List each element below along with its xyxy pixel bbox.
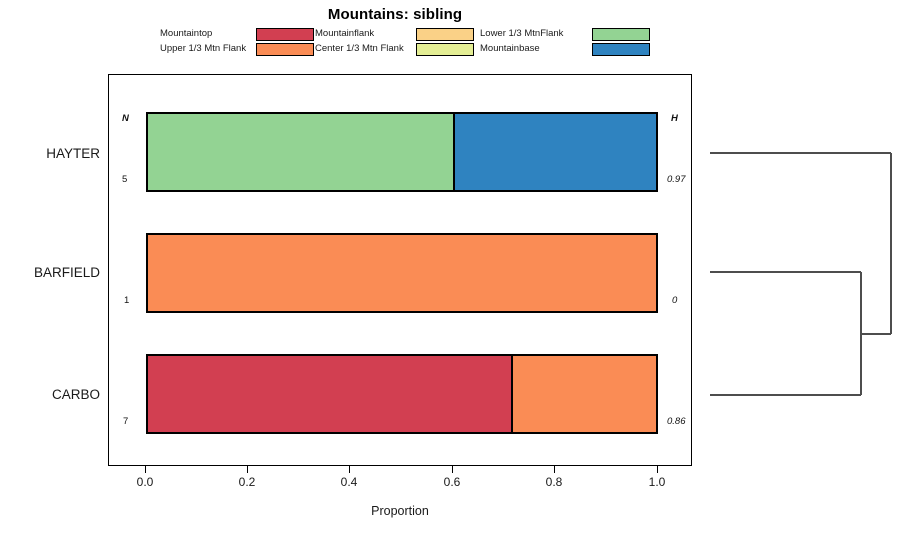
legend-swatch-mountainbase xyxy=(592,43,650,56)
x-tick-label: 0.6 xyxy=(432,475,472,489)
bar-row-hayter: 5 0.97 xyxy=(109,112,693,192)
x-tick-label: 1.0 xyxy=(637,475,677,489)
x-tick-mark xyxy=(657,466,658,473)
x-tick-mark xyxy=(349,466,350,473)
x-tick-label: 0.0 xyxy=(125,475,165,489)
legend-column-2: Mountainflank Center 1/3 Mtn Flank xyxy=(315,27,475,57)
legend-item: Center 1/3 Mtn Flank xyxy=(315,42,475,57)
legend-item: Mountainflank xyxy=(315,27,475,42)
chart-canvas: Mountains: sibling Mountaintop Upper 1/3… xyxy=(0,0,900,540)
n-value-hayter: 5 xyxy=(122,174,127,185)
bar-segment-upper-third-flank[interactable] xyxy=(511,356,656,432)
legend-swatch-lower-third-flank xyxy=(592,28,650,41)
x-axis-title: Proportion xyxy=(108,504,692,518)
legend-column-3: Lower 1/3 MtnFlank Mountainbase xyxy=(480,27,650,57)
legend-item-label: Upper 1/3 Mtn Flank xyxy=(160,43,246,55)
x-tick-mark xyxy=(554,466,555,473)
x-tick-label: 0.8 xyxy=(534,475,574,489)
legend-item-label: Mountaintop xyxy=(160,28,212,40)
legend-item-label: Mountainbase xyxy=(480,43,540,55)
chart-legend: Mountaintop Upper 1/3 Mtn Flank Mountain… xyxy=(160,27,660,57)
bar-segment-upper-third-flank[interactable] xyxy=(148,235,656,311)
x-tick-mark xyxy=(247,466,248,473)
legend-item: Upper 1/3 Mtn Flank xyxy=(160,42,315,57)
row-label-carbo: CARBO xyxy=(0,387,100,402)
x-tick-label: 0.2 xyxy=(227,475,267,489)
bar-row-barfield: 1 0 xyxy=(109,233,693,313)
legend-item: Mountaintop xyxy=(160,27,315,42)
bar-segment-mountainbase[interactable] xyxy=(453,114,656,190)
h-value-barfield: 0 xyxy=(672,295,677,306)
x-tick-mark xyxy=(452,466,453,473)
bar-segment-lower-third-flank[interactable] xyxy=(148,114,453,190)
stacked-bar-barfield[interactable] xyxy=(146,233,658,313)
n-value-barfield: 1 xyxy=(124,295,129,306)
bar-row-carbo: 7 0.86 xyxy=(109,354,693,434)
dendrogram xyxy=(700,74,900,466)
legend-swatch-upper-third-flank xyxy=(256,43,314,56)
legend-swatch-mountainflank xyxy=(416,28,474,41)
legend-swatch-center-third-flank xyxy=(416,43,474,56)
stacked-bar-carbo[interactable] xyxy=(146,354,658,434)
n-value-carbo: 7 xyxy=(123,416,128,427)
row-label-barfield: BARFIELD xyxy=(0,265,100,280)
legend-item-label: Mountainflank xyxy=(315,28,374,40)
x-tick-label: 0.4 xyxy=(329,475,369,489)
bar-segment-mountaintop[interactable] xyxy=(148,356,511,432)
x-tick-mark xyxy=(145,466,146,473)
legend-item: Mountainbase xyxy=(480,42,650,57)
stacked-bar-hayter[interactable] xyxy=(146,112,658,192)
legend-item: Lower 1/3 MtnFlank xyxy=(480,27,650,42)
plot-panel: N H 5 0.97 1 0 7 0.86 xyxy=(108,74,692,466)
legend-column-1: Mountaintop Upper 1/3 Mtn Flank xyxy=(160,27,315,57)
row-label-hayter: HAYTER xyxy=(0,146,100,161)
h-value-hayter: 0.97 xyxy=(667,174,686,185)
legend-item-label: Center 1/3 Mtn Flank xyxy=(315,43,404,55)
chart-title: Mountains: sibling xyxy=(0,6,790,23)
legend-item-label: Lower 1/3 MtnFlank xyxy=(480,28,563,40)
dendrogram-svg xyxy=(700,74,900,466)
legend-swatch-mountaintop xyxy=(256,28,314,41)
h-value-carbo: 0.86 xyxy=(667,416,686,427)
